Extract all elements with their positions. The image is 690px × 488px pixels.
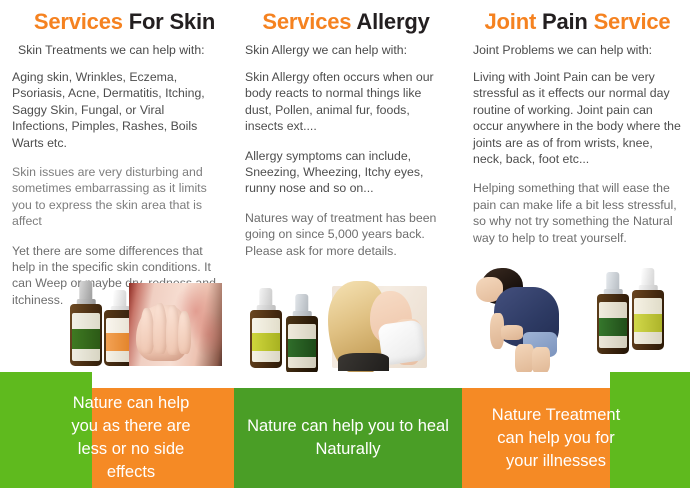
banner-box-3-text: Nature Treatment can help you for your i… [490, 404, 622, 473]
heading-allergy-keyword: Services [262, 9, 351, 34]
heading-joint: Joint Pain Service [473, 8, 682, 36]
banner-box-heal-naturally: Nature can help you to heal Naturally [234, 388, 462, 488]
heading-joint-rest: Service [588, 9, 671, 34]
paragraph-allergy-symptoms: Allergy symptoms can include, Sneezing, … [245, 148, 447, 197]
columns-container: Services For Skin Skin Treatments we can… [0, 0, 690, 372]
paragraph-skin-issues: Skin issues are very disturbing and some… [12, 164, 223, 230]
subhead-allergy: Skin Allergy we can help with: [245, 42, 447, 58]
bottom-banner: Nature can help you as there are less or… [0, 372, 690, 488]
heading-skin-rest: For Skin [123, 9, 215, 34]
paragraph-allergy-natures-way: Natures way of treatment has been going … [245, 210, 447, 259]
subhead-joint: Joint Problems we can help with: [473, 42, 682, 58]
heading-allergy-rest: Allergy [351, 9, 429, 34]
service-poster: Services For Skin Skin Treatments we can… [0, 0, 690, 488]
subhead-skin: Skin Treatments we can help with: [12, 42, 223, 58]
paragraph-skin-differences: Yet there are some differences that help… [12, 243, 223, 309]
column-joint: Joint Pain Service Joint Problems we can… [459, 0, 690, 372]
heading-allergy: Services Allergy [245, 8, 447, 36]
heading-skin: Services For Skin [12, 8, 223, 36]
banner-box-1-text: Nature can help you as there are less or… [68, 392, 194, 484]
paragraph-skin-conditions: Aging skin, Wrinkles, Eczema, Psoriasis,… [12, 69, 223, 151]
paragraph-joint-help: Helping something that will ease the pai… [473, 180, 682, 246]
banner-box-2-text: Nature can help you to heal Naturally [242, 415, 454, 461]
banner-white-notch [92, 372, 610, 388]
banner-box-illnesses: Nature Treatment can help you for your i… [462, 388, 610, 488]
paragraph-allergy-causes: Skin Allergy often occurs when our body … [245, 69, 447, 135]
heading-joint-middle: Pain [536, 9, 588, 34]
paragraph-joint-description: Living with Joint Pain can be very stres… [473, 69, 682, 167]
column-skin: Services For Skin Skin Treatments we can… [0, 0, 233, 372]
heading-skin-keyword: Services [34, 9, 123, 34]
banner-box-side-effects: Nature can help you as there are less or… [92, 388, 234, 488]
heading-joint-keyword: Joint [485, 9, 537, 34]
column-allergy: Services Allergy Skin Allergy we can hel… [233, 0, 459, 372]
